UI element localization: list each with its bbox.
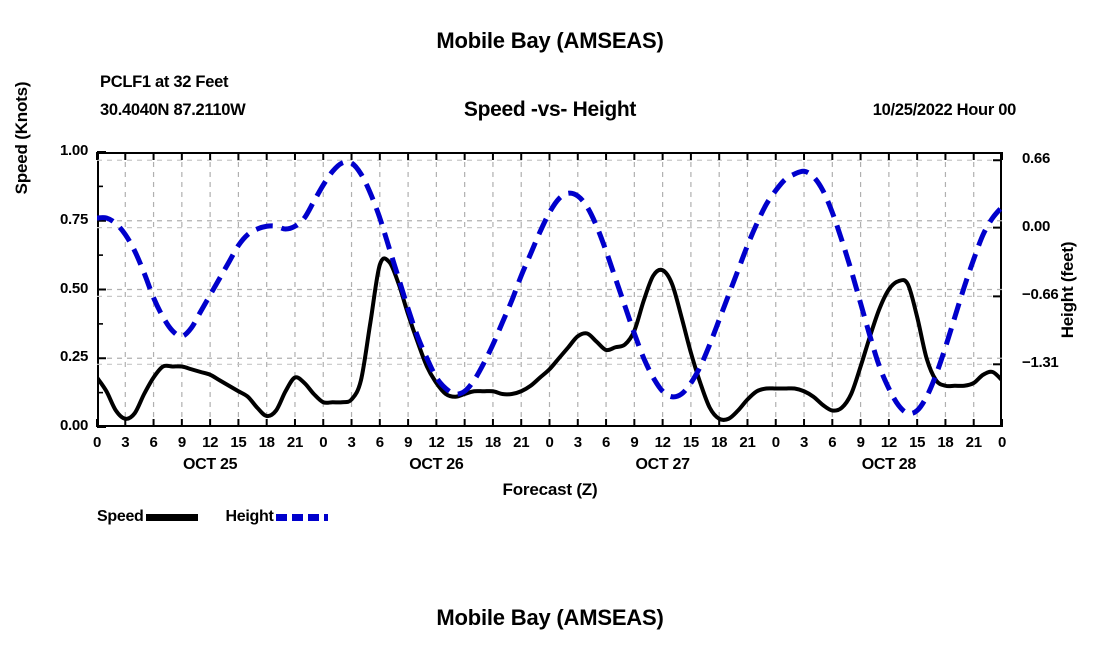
x-tick: 15 (223, 434, 253, 451)
x-tick: 21 (959, 434, 989, 451)
x-tick: 0 (987, 434, 1017, 451)
x-tick: 18 (930, 434, 960, 451)
y-tick-left: 0.00 (60, 417, 88, 434)
plot-canvas (97, 152, 1002, 427)
legend-item-speed: Speed (97, 508, 226, 526)
x-tick: 9 (619, 434, 649, 451)
x-tick: 3 (337, 434, 367, 451)
legend-label-speed: Speed (97, 508, 144, 526)
y-tick-right: −1.31 (1022, 354, 1058, 371)
y-tick-right: 0.66 (1022, 150, 1050, 167)
x-tick: 6 (591, 434, 621, 451)
y-tick-left: 0.25 (60, 348, 88, 365)
x-tick: 3 (110, 434, 140, 451)
x-tick: 9 (167, 434, 197, 451)
legend-swatch-height-icon (276, 514, 328, 521)
x-day-label: OCT 27 (603, 456, 723, 474)
station-name: PCLF1 at 32 Feet (100, 73, 228, 92)
x-tick: 15 (902, 434, 932, 451)
y-axis-right-label: Height (feet) (1058, 242, 1078, 339)
y-axis-left-label: Speed (Knots) (12, 82, 32, 195)
chart-page: Mobile Bay (AMSEAS) PCLF1 at 32 Feet 30.… (0, 0, 1100, 650)
x-tick: 18 (478, 434, 508, 451)
x-tick: 21 (280, 434, 310, 451)
x-tick: 12 (874, 434, 904, 451)
x-tick: 0 (761, 434, 791, 451)
x-tick: 12 (421, 434, 451, 451)
x-tick: 18 (704, 434, 734, 451)
x-tick: 6 (139, 434, 169, 451)
y-tick-left: 0.50 (60, 280, 88, 297)
x-tick: 3 (789, 434, 819, 451)
x-tick: 6 (817, 434, 847, 451)
legend-label-height: Height (226, 508, 274, 526)
legend-item-height: Height (226, 508, 328, 526)
x-tick: 15 (450, 434, 480, 451)
legend: Speed Height (97, 508, 328, 526)
y-tick-left: 0.75 (60, 211, 88, 228)
x-tick: 21 (732, 434, 762, 451)
x-tick: 9 (393, 434, 423, 451)
bottom-title: Mobile Bay (AMSEAS) (0, 605, 1100, 631)
x-tick: 15 (676, 434, 706, 451)
x-tick: 0 (308, 434, 338, 451)
x-tick: 12 (195, 434, 225, 451)
x-tick: 0 (535, 434, 565, 451)
y-tick-right: −0.66 (1022, 286, 1058, 303)
series-group (97, 162, 1002, 420)
x-tick: 0 (82, 434, 112, 451)
y-tick-left: 1.00 (60, 142, 88, 159)
x-tick: 9 (846, 434, 876, 451)
x-tick: 3 (563, 434, 593, 451)
x-day-label: OCT 28 (829, 456, 949, 474)
x-day-label: OCT 26 (376, 456, 496, 474)
x-tick: 21 (506, 434, 536, 451)
x-tick: 12 (648, 434, 678, 451)
x-axis-label: Forecast (Z) (0, 480, 1100, 500)
model-run-time: 10/25/2022 Hour 00 (873, 101, 1016, 120)
x-tick: 18 (252, 434, 282, 451)
main-title: Mobile Bay (AMSEAS) (0, 28, 1100, 54)
y-tick-right: 0.00 (1022, 218, 1050, 235)
x-tick: 6 (365, 434, 395, 451)
x-day-label: OCT 25 (150, 456, 270, 474)
plot-area (97, 152, 1002, 427)
legend-swatch-speed-icon (146, 514, 198, 521)
